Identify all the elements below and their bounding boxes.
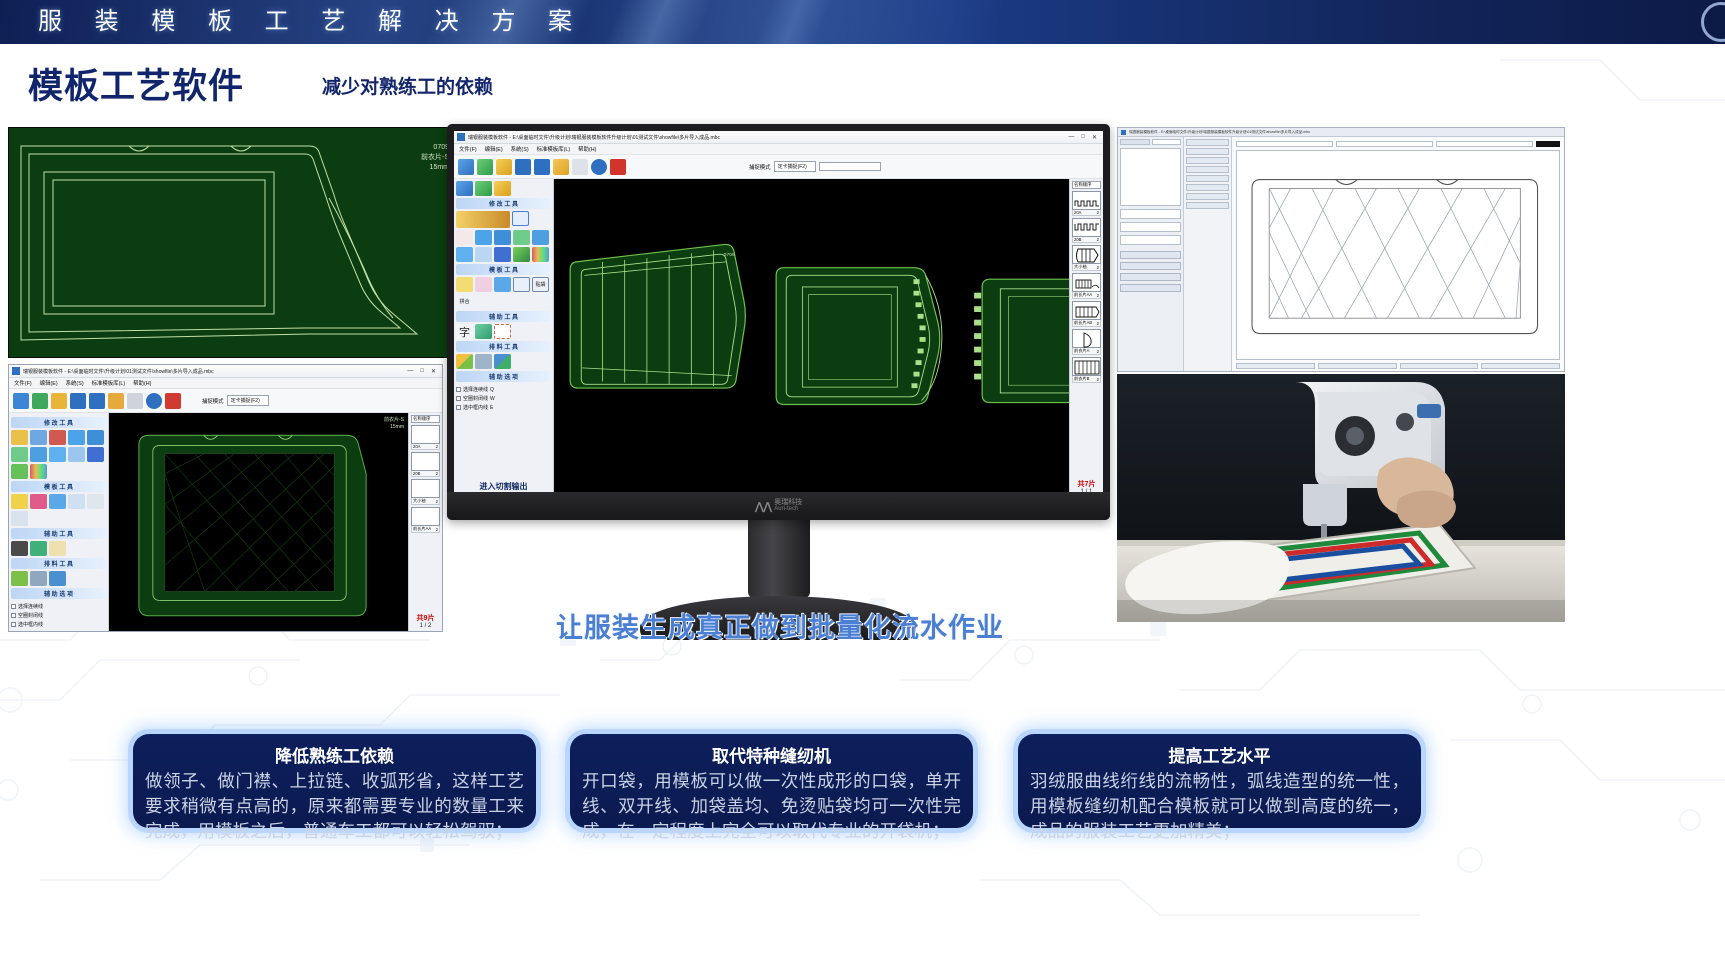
circle-icon[interactable] [30, 447, 47, 462]
merge-icon[interactable] [11, 511, 28, 526]
merge-icon[interactable]: 拼合 [456, 294, 473, 309]
thumb-vector [1073, 274, 1102, 293]
angle-icon[interactable] [49, 430, 66, 445]
nesting-option-row[interactable] [1186, 148, 1229, 155]
piece-count: 2 [1097, 321, 1099, 326]
mini-group-nesting: 排 料 工 具 [11, 558, 106, 569]
checkbox-shortcut: E [490, 405, 493, 411]
mini-group-modify: 修 改 工 具 [11, 417, 106, 428]
mini-capture-mode-label: 捕捉模式 [202, 397, 224, 405]
piece-name: 前长片AB [1074, 320, 1092, 326]
sort-dropdown[interactable]: 名称顺序 [1072, 181, 1101, 189]
piece-name: 前衣片B [1074, 376, 1089, 382]
app-icon [457, 133, 465, 141]
piece-name: 20A [1074, 210, 1081, 215]
color-band-icon[interactable] [532, 247, 549, 262]
mini-cut-output-button[interactable]: 进入切割输出 [11, 628, 106, 632]
extend-icon[interactable] [531, 211, 548, 226]
nesting-option-row[interactable] [1186, 184, 1229, 191]
right-piece-panel: 名称顺序 20A 2 [1069, 179, 1103, 497]
template-tool-icons[interactable]: 贴袋 拼合 [456, 277, 551, 309]
monitor-brand-logo: ⋀⋀ 奥瑞科技 Auri-tech [755, 499, 803, 513]
draw-line-icon[interactable] [512, 211, 529, 226]
save-icon[interactable] [496, 159, 512, 175]
bottom-button[interactable] [1481, 363, 1560, 369]
mini-app-toolbar[interactable]: 捕捉模式 定卡捕捉(F2) [9, 389, 442, 413]
nesting-field[interactable] [1120, 209, 1181, 219]
mini-checkbox-inner[interactable]: 选中框内线 [11, 621, 106, 628]
checkbox-box[interactable] [11, 604, 16, 609]
nesting-left-tabs[interactable] [1120, 139, 1181, 145]
nesting-option-row[interactable] [1186, 193, 1229, 200]
group-modify-tools: 修 改 工 具 [456, 198, 551, 209]
split-icon[interactable] [30, 494, 47, 509]
nesting-bottom-toolbar[interactable] [1236, 363, 1560, 369]
nesting-app-body [1118, 137, 1564, 372]
nesting-app-screenshot: 瑞银服装模板软件 - E:\桌面临时文件\升级计划\瑞银服装模板软件升级计划\0… [1117, 127, 1565, 372]
minimize-icon[interactable]: — [1068, 134, 1074, 141]
tag-arrow-icon[interactable] [494, 277, 511, 292]
seam-allowance-icon[interactable] [456, 277, 473, 292]
copy-icon[interactable] [553, 159, 569, 175]
menu-file[interactable]: 文件(F) [459, 145, 477, 153]
piece-count: 2 [1097, 349, 1099, 354]
software-window: 瑞银服装模板软件 - E:\桌面临时文件\升级计划\瑞银服装模板软件升级计划\0… [454, 131, 1103, 497]
menu-system[interactable]: 系统(S) [66, 379, 84, 387]
canvas-vector: 0709 [554, 179, 1069, 497]
feature-card-2: 取代特种缝纫机 开口袋，用模板可以做一次性成形的口袋，单开线、双开线、加袋盖均、… [570, 734, 973, 828]
feature-card-1-title: 降低熟练工依赖 [145, 742, 524, 767]
monitor-screen: 瑞银服装模板软件 - E:\桌面临时文件\升级计划\瑞银服装模板软件升级计划\0… [454, 131, 1103, 497]
nesting-action-button[interactable] [1120, 262, 1181, 270]
mini-capture-mode-select[interactable]: 定卡捕捉(F2) [227, 395, 269, 406]
checkbox-label: 选择连续线 [18, 603, 43, 610]
menu-template-library[interactable]: 标准模板库(L) [92, 379, 126, 387]
nesting-option-row[interactable] [1186, 139, 1229, 146]
toolbar-swatch[interactable] [1536, 141, 1560, 147]
import-icon[interactable] [456, 181, 473, 196]
piece-thumbnail-20b[interactable] [1072, 218, 1101, 237]
open-new-icon[interactable] [13, 393, 29, 409]
delete-icon[interactable] [165, 393, 181, 409]
checkbox-shortcut: W [490, 396, 495, 402]
banner-title: 服 装 模 板 工 艺 解 决 方 案 [38, 0, 585, 44]
feature-card-3-title: 提高工艺水平 [1030, 742, 1409, 767]
redo-icon[interactable] [89, 393, 105, 409]
total-pieces-label: 共7片 [1078, 479, 1096, 489]
pattern-vector [9, 128, 464, 358]
mini-app-window-buttons[interactable]: — □ ✕ [407, 368, 439, 375]
thumb-vector [1073, 192, 1102, 211]
piece-thumbnail-front-b[interactable] [1072, 357, 1101, 376]
software-menubar[interactable]: 文件(F) 编辑(E) 系统(S) 标准模板库(L) 帮助(H) [454, 144, 1103, 155]
fill-icon[interactable] [49, 447, 66, 462]
minimize-icon[interactable]: — [407, 368, 413, 375]
stamp-icon[interactable] [475, 324, 492, 339]
checkbox-closed-path[interactable]: 空圈封闭线 W [456, 395, 551, 402]
mini-canvas-piece-label: 前衣片-S 15mm [384, 417, 404, 431]
mini-total-box: 共9片 1 / 2 [417, 613, 435, 631]
nesting-mid-panel [1184, 137, 1232, 372]
mirror-icon[interactable] [11, 447, 28, 462]
menu-file[interactable]: 文件(F) [14, 379, 32, 387]
nesting-preview-canvas[interactable] [1236, 150, 1560, 361]
mini-assist-icons[interactable] [11, 541, 106, 556]
mini-app-menubar[interactable]: 文件(F) 编辑(E) 系统(S) 标准模板库(L) 帮助(H) [9, 378, 442, 389]
software-titlebar: 瑞银服装模板软件 - E:\桌面临时文件\升级计划\瑞银服装模板软件升级计划\0… [454, 131, 1103, 144]
mini-app-body: 修 改 工 具 模 板 工 具 [9, 413, 442, 631]
delete-icon[interactable] [610, 159, 626, 175]
piece-thumb-label: 大小袖2 [411, 498, 440, 505]
mini-app-canvas[interactable]: 前衣片-S 15mm [109, 413, 408, 631]
close-icon[interactable]: ✕ [1092, 134, 1097, 141]
quick-icons[interactable] [456, 181, 551, 196]
nesting-grid-icon[interactable] [456, 354, 473, 369]
mini-app-screenshot: 瑞银服装模板软件 - E:\桌面临时文件\升级计划\01测试文件\showfil… [8, 364, 443, 632]
feature-card-1-body: 做领子、做门襟、上拉链、收弧形省，这样工艺要求稍微有点高的，原来都需要专业的数量… [145, 769, 524, 844]
mini-app-titlebar: 瑞银服装模板软件 - E:\桌面临时文件\升级计划\01测试文件\showfil… [9, 365, 442, 378]
pocket-icon[interactable] [513, 277, 530, 292]
piece-thumbnail-front-aa[interactable] [1072, 273, 1101, 292]
maximize-icon[interactable]: □ [1081, 134, 1085, 141]
redo-icon[interactable] [534, 159, 550, 175]
brand-name-cn: 奥瑞科技 [774, 499, 802, 506]
pattern-piece-label: 前衣片-S [421, 153, 449, 162]
save-icon[interactable] [494, 181, 511, 196]
piece-name: 前衣片A [1074, 348, 1089, 354]
nesting-grid-icon[interactable] [11, 571, 28, 586]
slogan-text: 让服装生成真正做到批量化流水作业 [556, 606, 1004, 645]
piece-thumbnail[interactable] [411, 425, 440, 444]
piece-thumbnail[interactable] [411, 452, 440, 471]
toolbar-field[interactable] [1336, 141, 1433, 147]
line-icon[interactable] [30, 430, 47, 445]
software-title: 瑞银服装模板软件 - E:\桌面临时文件\升级计划\瑞银服装模板软件升级计划\0… [468, 134, 1068, 141]
nesting-action-button[interactable] [1120, 273, 1181, 281]
mini-total-label: 共9片 [417, 613, 435, 623]
piece-label-front-a: 前衣片A 2 [1072, 348, 1101, 355]
mini-piece-code: 前衣片-S [384, 417, 404, 424]
text-icon[interactable]: 字 [456, 324, 473, 339]
checkbox-inner-lines[interactable]: 选中框内线 E [456, 404, 551, 411]
menu-edit[interactable]: 编辑(E) [485, 145, 503, 153]
group-nesting-tools: 排 料 工 具 [456, 341, 551, 352]
cursor-icon[interactable] [475, 354, 492, 369]
page-title: 模板工艺软件 [28, 58, 244, 109]
tab-button[interactable] [1152, 139, 1182, 145]
maximize-icon[interactable]: □ [420, 368, 424, 375]
thumb-vector [1073, 358, 1102, 377]
piece-count: 2 [1097, 265, 1099, 270]
tag-icon[interactable] [49, 494, 66, 509]
mini-sort-dropdown[interactable]: 名称顺序 [411, 415, 440, 423]
piece-count: 2 [436, 499, 438, 504]
checkbox-label: 空圈封闭线 [18, 612, 43, 619]
patch-pocket-icon[interactable]: 贴袋 [532, 277, 549, 292]
mirror-icon[interactable] [513, 230, 530, 245]
feature-card-3-body: 羽绒服曲线绗线的流畅性，弧线造型的统一性，用模板缝纫机配合模板就可以做到高度的统… [1030, 769, 1409, 844]
group-template-tools: 模 板 工 具 [456, 264, 551, 275]
software-body: 修 改 工 具 [454, 179, 1103, 497]
checkbox-box[interactable] [456, 387, 461, 392]
mini-group-assist: 辅 助 工 具 [11, 528, 106, 539]
nesting-right-area [1232, 137, 1564, 372]
piece-thumb-label: 20B2 [411, 471, 440, 477]
toolbar-field[interactable] [1236, 141, 1333, 147]
mini-canvas-vector [109, 413, 408, 631]
order-number-icon[interactable] [494, 354, 511, 369]
paste-icon[interactable] [127, 393, 143, 409]
svg-text:0709: 0709 [724, 252, 735, 258]
mini-piece-size: 15mm [384, 424, 404, 431]
pattern-preview-screenshot: 0709 前衣片-S 15mm [8, 127, 464, 358]
modify-tool-icons[interactable] [456, 211, 551, 262]
punch-icon[interactable] [68, 447, 85, 462]
thumb-vector [1073, 330, 1102, 349]
pencil-icon[interactable] [456, 211, 510, 228]
top-banner: 服 装 模 板 工 艺 解 决 方 案 [0, 0, 1725, 44]
menu-edit[interactable]: 编辑(E) [40, 379, 58, 387]
nesting-action-button[interactable] [1120, 251, 1181, 259]
sewing-machine-photo [1117, 374, 1565, 622]
nesting-field[interactable] [1120, 235, 1181, 245]
zoom-icon[interactable] [591, 159, 607, 175]
checkbox-label: 空圈封闭线 [463, 395, 488, 402]
feature-card-3: 提高工艺水平 羽绒服曲线绗线的流畅性，弧线造型的统一性，用模板缝纫机配合模板就可… [1018, 734, 1421, 828]
nesting-option-row[interactable] [1186, 175, 1229, 182]
angle-icon[interactable] [456, 230, 473, 245]
piece-thumbnail-sleeve[interactable] [1072, 245, 1101, 264]
bottom-button[interactable] [1318, 363, 1397, 369]
piece-count: 2 [1097, 237, 1099, 242]
nesting-list-box[interactable] [1120, 148, 1181, 206]
app-icon [1121, 130, 1126, 135]
piece-count: 2 [1097, 377, 1099, 382]
stamp-icon[interactable] [30, 541, 47, 556]
brand-mark-icon: ⋀⋀ [755, 500, 772, 513]
piece-name: 20B [413, 471, 420, 476]
mini-checkbox-closed[interactable]: 空圈封闭线 [11, 612, 106, 619]
nesting-option-row[interactable] [1186, 202, 1229, 209]
nesting-field[interactable] [1120, 222, 1181, 232]
bars-icon[interactable] [87, 447, 104, 462]
fan-icon[interactable] [11, 464, 28, 479]
checkbox-select-continuous[interactable]: 选择连续线 Q [456, 386, 551, 393]
mini-modify-icons[interactable] [11, 430, 106, 479]
nesting-preview-vector [1237, 151, 1559, 360]
mini-template-icons[interactable] [11, 494, 106, 526]
menu-help[interactable]: 帮助(H) [578, 145, 596, 153]
piece-label-front-aa: 前长片AA 2 [1072, 292, 1101, 299]
checkbox-label: 选中框内线 [18, 621, 43, 628]
monitor-bezel: 瑞银服装模板软件 - E:\桌面临时文件\升级计划\瑞银服装模板软件升级计划\0… [447, 124, 1110, 520]
page-subtitle: 减少对熟练工的依赖 [322, 72, 493, 99]
mini-app-window: 瑞银服装模板软件 - E:\桌面临时文件\升级计划\01测试文件\showfil… [9, 365, 442, 631]
bottom-button[interactable] [1236, 363, 1315, 369]
mini-capture-mode-group: 捕捉模式 定卡捕捉(F2) [202, 395, 269, 406]
nesting-app-titlebar: 瑞银服装模板软件 - E:\桌面临时文件\升级计划\瑞银服装模板软件升级计划\0… [1118, 128, 1564, 137]
mini-group-options: 辅 助 选 项 [11, 588, 106, 599]
app-icon [12, 367, 20, 375]
feature-card-2-title: 取代特种缝纫机 [582, 742, 961, 767]
piece-thumbnail-front-ab[interactable] [1072, 301, 1101, 320]
zoom-icon[interactable] [146, 393, 162, 409]
pencil-icon[interactable] [11, 430, 28, 445]
piece-label-sleeve: 大小袖 2 [1072, 264, 1101, 271]
mini-app-title: 瑞银服装模板软件 - E:\桌面临时文件\升级计划\01测试文件\showfil… [23, 368, 407, 375]
piece-name: 前长片AA [1074, 292, 1092, 298]
piece-name: 前长片AA [413, 526, 431, 532]
piece-count: 2 [436, 527, 438, 532]
piece-name: 大小袖 [1074, 264, 1087, 270]
punch-hole-icon[interactable] [475, 247, 492, 262]
move-icon[interactable] [68, 430, 85, 445]
menu-help[interactable]: 帮助(H) [133, 379, 151, 387]
patch-pocket-icon[interactable] [87, 494, 104, 509]
thumb-vector [1073, 246, 1102, 265]
toolbar-field[interactable] [1436, 141, 1533, 147]
pattern-canvas [9, 128, 463, 357]
checkbox-box[interactable] [11, 622, 16, 627]
banner-sheen-2 [582, 0, 729, 44]
checkbox-label: 选中框内线 [463, 404, 488, 411]
center-point-icon[interactable] [532, 230, 549, 245]
pocket-icon[interactable] [68, 494, 85, 509]
nesting-top-toolbar[interactable] [1236, 141, 1560, 147]
banner-sheen-3 [732, 0, 849, 44]
undo-icon[interactable] [70, 393, 86, 409]
mini-page-label: 1 / 2 [417, 623, 435, 629]
piece-count: 2 [1097, 210, 1099, 215]
feature-card-2-body: 开口袋，用模板可以做一次性成形的口袋，单开线、双开线、加袋盖均、免烫贴袋均可一次… [582, 769, 961, 844]
fan-icon[interactable] [513, 247, 530, 262]
rotate-icon[interactable] [87, 430, 104, 445]
left-tool-panel: 修 改 工 具 [454, 179, 554, 497]
group-assist-tools: 辅 助 工 具 [456, 311, 551, 322]
cursor-icon[interactable] [30, 571, 47, 586]
brand-name-en: Auri-tech [774, 506, 802, 513]
piece-count: 2 [1097, 293, 1099, 298]
capture-input[interactable] [819, 162, 881, 171]
open-folder-icon[interactable] [477, 159, 493, 175]
nesting-option-row[interactable] [1186, 166, 1229, 173]
feature-card-1: 降低熟练工依赖 做领子、做门襟、上拉链、收弧形省，这样工艺要求稍微有点高的，原来… [133, 734, 536, 828]
close-icon[interactable]: ✕ [431, 368, 436, 375]
piece-name: 20B [1074, 237, 1081, 242]
open-folder-icon[interactable] [32, 393, 48, 409]
group-assist-options: 辅 助 选 项 [456, 371, 551, 382]
rect-select-icon[interactable] [494, 324, 511, 339]
rotate-icon[interactable] [494, 230, 511, 245]
piece-name: 大小袖 [413, 498, 426, 504]
save-icon[interactable] [51, 393, 67, 409]
checkbox-label: 选择连续线 [463, 386, 488, 393]
menu-template-library[interactable]: 标准模板库(L) [537, 145, 571, 153]
nesting-option-row[interactable] [1186, 157, 1229, 164]
mini-nesting-icons[interactable] [11, 571, 106, 586]
seam-icon[interactable] [11, 494, 28, 509]
capture-mode-group: 捕捉模式 定卡捕捉(F2) [749, 161, 881, 172]
bars-icon[interactable] [494, 247, 511, 262]
checkbox-box[interactable] [456, 405, 461, 410]
software-toolbar[interactable]: 捕捉模式 定卡捕捉(F2) [454, 155, 1103, 179]
main-canvas[interactable]: 0709 [554, 179, 1069, 497]
order-number-icon[interactable] [49, 571, 66, 586]
photo-illustration [1117, 374, 1565, 622]
checkbox-box[interactable] [11, 613, 16, 618]
split-line-icon[interactable] [475, 277, 492, 292]
tab-button[interactable] [1120, 139, 1150, 145]
piece-thumbnail[interactable] [411, 479, 440, 498]
piece-label-20a: 20A 2 [1072, 210, 1101, 216]
monitor-chin: ⋀⋀ 奥瑞科技 Auri-tech [447, 492, 1110, 520]
thumb-vector [1073, 219, 1102, 238]
piece-thumbnail[interactable] [411, 507, 440, 526]
move-icon[interactable] [475, 230, 492, 245]
assist-tool-icons[interactable]: 字 [456, 324, 551, 339]
bottom-button[interactable] [1400, 363, 1479, 369]
nesting-left-panel [1118, 137, 1184, 372]
checkbox-shortcut: Q [490, 387, 494, 393]
text-icon[interactable] [11, 541, 28, 556]
checkbox-box[interactable] [456, 396, 461, 401]
piece-label-20b: 20B 2 [1072, 237, 1101, 243]
mini-app-right-panel: 名称顺序 20A2 20B2 大小袖2 前长片AA2 共9片 1 / 2 [408, 413, 442, 631]
piece-name: 20A [413, 444, 420, 449]
paste-icon[interactable] [572, 159, 588, 175]
copy-icon[interactable] [108, 393, 124, 409]
piece-thumbnail-front-a[interactable] [1072, 329, 1101, 348]
mini-checkbox-continuous[interactable]: 选择连续线 [11, 603, 106, 610]
piece-thumbnail-20a[interactable] [1072, 191, 1101, 210]
piece-thumb-label: 20A2 [411, 444, 440, 450]
capture-mode-select[interactable]: 定卡捕捉(F2) [774, 161, 816, 172]
monitor-stand-neck [748, 520, 810, 598]
mini-app-left-toolpanel: 修 改 工 具 模 板 工 具 [9, 413, 109, 631]
nesting-tool-icons[interactable] [456, 354, 551, 369]
gradient-icon[interactable] [30, 464, 47, 479]
capture-mode-label: 捕捉模式 [749, 163, 771, 171]
open-folder-icon[interactable] [475, 181, 492, 196]
undo-icon[interactable] [515, 159, 531, 175]
menu-system[interactable]: 系统(S) [511, 145, 529, 153]
piece-label-front-b: 前衣片B 2 [1072, 376, 1101, 383]
fill-rect-icon[interactable] [456, 247, 473, 262]
banner-orb-decoration [1701, 2, 1725, 42]
mini-group-template: 模 板 工 具 [11, 481, 106, 492]
nesting-action-button[interactable] [1120, 284, 1181, 292]
piece-label-front-ab: 前长片AB 2 [1072, 320, 1101, 327]
thumb-vector [1073, 302, 1102, 321]
nesting-app-title: 瑞银服装模板软件 - E:\桌面临时文件\升级计划\瑞银服装模板软件升级计划\0… [1129, 130, 1310, 135]
window-buttons[interactable]: — □ ✕ [1068, 134, 1100, 141]
piece-thumb-label: 前长片AA2 [411, 526, 440, 533]
import-icon[interactable] [458, 159, 474, 175]
rect-select-icon[interactable] [49, 541, 66, 556]
piece-count: 2 [436, 444, 438, 449]
piece-count: 2 [436, 471, 438, 476]
